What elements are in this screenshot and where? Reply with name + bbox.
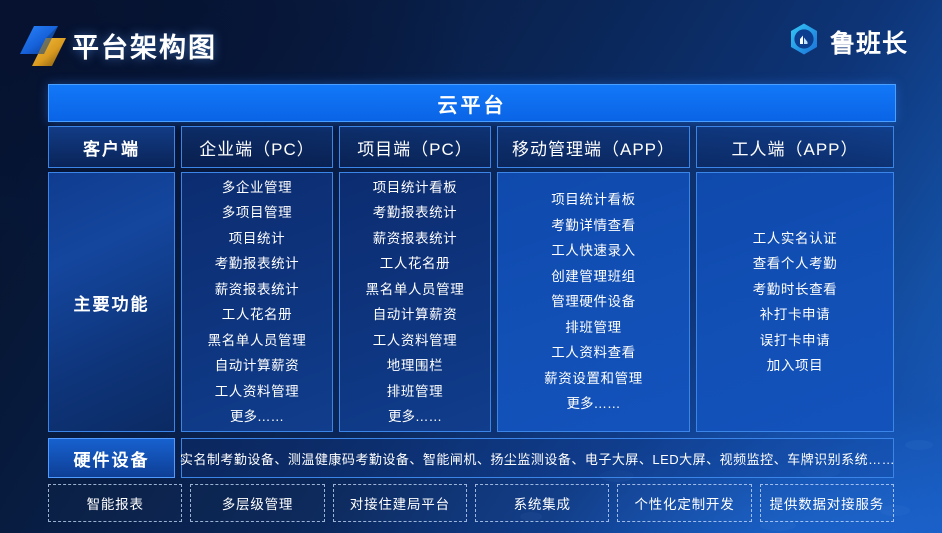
feature-item: 工人资料管理 bbox=[373, 328, 458, 354]
column-header-enterprise-pc-text: 企业端（PC） bbox=[199, 135, 315, 160]
bg-blob bbox=[905, 440, 933, 450]
feature-item: 排班管理 bbox=[387, 379, 443, 405]
brand-name: 鲁班长 bbox=[830, 24, 908, 60]
feature-item: 查看个人考勤 bbox=[753, 251, 838, 277]
feature-item: 排班管理 bbox=[565, 315, 621, 341]
feature-item: 考勤时长查看 bbox=[753, 277, 838, 303]
column-header-mobile-app-text: 移动管理端（APP） bbox=[512, 135, 675, 160]
feature-item: 更多…… bbox=[230, 404, 284, 430]
column-header-enterprise-pc[interactable]: 企业端（PC） bbox=[181, 126, 333, 168]
feature-item: 黑名单人员管理 bbox=[208, 328, 307, 354]
luban-slash-logo-icon bbox=[18, 20, 74, 76]
row-label-main-functions-text: 主要功能 bbox=[74, 290, 150, 315]
cloud-platform-label: 云平台 bbox=[438, 89, 507, 118]
row-label-clients-text: 客户端 bbox=[83, 135, 140, 160]
page-header: 平台架构图 鲁班长 bbox=[0, 0, 942, 82]
feature-item: 多项目管理 bbox=[222, 200, 293, 226]
column-header-project-pc[interactable]: 项目端（PC） bbox=[339, 126, 491, 168]
feature-list-mobile-app: 项目统计看板考勤详情查看工人快速录入创建管理班组管理硬件设备排班管理工人资料查看… bbox=[497, 172, 690, 432]
feature-item: 管理硬件设备 bbox=[551, 289, 636, 315]
feature-item: 工人资料查看 bbox=[551, 340, 636, 366]
feature-item: 自动计算薪资 bbox=[373, 302, 458, 328]
column-header-worker-app[interactable]: 工人端（APP） bbox=[696, 126, 894, 168]
service-tag-text: 智能报表 bbox=[87, 493, 144, 513]
brand-logo: 鲁班长 bbox=[787, 22, 908, 61]
feature-item: 考勤报表统计 bbox=[215, 251, 300, 277]
feature-item: 工人资料管理 bbox=[215, 379, 300, 405]
column-header-project-pc-text: 项目端（PC） bbox=[357, 135, 473, 160]
service-tag[interactable]: 对接住建局平台 bbox=[333, 484, 467, 522]
feature-item: 项目统计看板 bbox=[551, 187, 636, 213]
feature-item: 地理围栏 bbox=[387, 353, 443, 379]
hardware-content: 实名制考勤设备、测温健康码考勤设备、智能闸机、扬尘监测设备、电子大屏、LED大屏… bbox=[181, 438, 894, 478]
feature-item: 考勤详情查看 bbox=[551, 213, 636, 239]
column-header-mobile-app[interactable]: 移动管理端（APP） bbox=[497, 126, 690, 168]
client-header-row: 客户端 企业端（PC） 项目端（PC） 移动管理端（APP） 工人端（APP） bbox=[48, 126, 894, 168]
service-tag-text: 多层级管理 bbox=[222, 493, 294, 513]
feature-item: 多企业管理 bbox=[222, 175, 293, 201]
feature-item: 薪资设置和管理 bbox=[544, 366, 643, 392]
feature-item: 工人花名册 bbox=[222, 302, 293, 328]
column-header-worker-app-text: 工人端（APP） bbox=[731, 135, 858, 160]
service-tag[interactable]: 智能报表 bbox=[48, 484, 182, 522]
feature-item: 自动计算薪资 bbox=[215, 353, 300, 379]
feature-list-worker-app: 工人实名认证查看个人考勤考勤时长查看补打卡申请误打卡申请加入项目 bbox=[696, 172, 894, 432]
service-tag[interactable]: 多层级管理 bbox=[190, 484, 324, 522]
feature-list-enterprise-pc: 多企业管理多项目管理项目统计考勤报表统计薪资报表统计工人花名册黑名单人员管理自动… bbox=[181, 172, 333, 432]
service-tags-row: 智能报表多层级管理对接住建局平台系统集成个性化定制开发提供数据对接服务 bbox=[48, 484, 894, 522]
page-title: 平台架构图 bbox=[72, 26, 217, 65]
service-tag-text: 提供数据对接服务 bbox=[770, 493, 884, 513]
row-label-main-functions: 主要功能 bbox=[48, 172, 175, 432]
feature-item: 更多…… bbox=[567, 391, 621, 417]
row-label-clients: 客户端 bbox=[48, 126, 175, 168]
feature-item: 工人实名认证 bbox=[753, 226, 838, 252]
service-tag-text: 系统集成 bbox=[514, 493, 571, 513]
feature-item: 项目统计 bbox=[229, 226, 285, 252]
feature-item: 考勤报表统计 bbox=[373, 200, 458, 226]
feature-item: 薪资报表统计 bbox=[215, 277, 300, 303]
feature-item: 薪资报表统计 bbox=[373, 226, 458, 252]
hardware-row: 硬件设备 实名制考勤设备、测温健康码考勤设备、智能闸机、扬尘监测设备、电子大屏、… bbox=[48, 438, 894, 478]
service-tag[interactable]: 系统集成 bbox=[475, 484, 609, 522]
feature-item: 加入项目 bbox=[767, 353, 823, 379]
feature-list-project-pc: 项目统计看板考勤报表统计薪资报表统计工人花名册黑名单人员管理自动计算薪资工人资料… bbox=[339, 172, 491, 432]
feature-item: 更多…… bbox=[388, 404, 442, 430]
cloud-platform-bar: 云平台 bbox=[48, 84, 896, 122]
feature-item: 误打卡申请 bbox=[760, 328, 831, 354]
platform-architecture-diagram: 平台架构图 鲁班长 云平台 bbox=[0, 0, 942, 533]
feature-item: 补打卡申请 bbox=[760, 302, 831, 328]
service-tag-text: 对接住建局平台 bbox=[350, 493, 450, 513]
service-tag[interactable]: 提供数据对接服务 bbox=[760, 484, 894, 522]
main-functions-row: 主要功能 多企业管理多项目管理项目统计考勤报表统计薪资报表统计工人花名册黑名单人… bbox=[48, 172, 894, 432]
feature-item: 项目统计看板 bbox=[373, 175, 458, 201]
hardware-label: 硬件设备 bbox=[48, 438, 175, 478]
feature-item: 工人花名册 bbox=[380, 251, 451, 277]
service-tag[interactable]: 个性化定制开发 bbox=[617, 484, 751, 522]
hardware-content-text: 实名制考勤设备、测温健康码考勤设备、智能闸机、扬尘监测设备、电子大屏、LED大屏… bbox=[180, 449, 895, 468]
feature-item: 工人快速录入 bbox=[551, 238, 636, 264]
hexagon-building-icon bbox=[787, 22, 821, 61]
hardware-label-text: 硬件设备 bbox=[74, 446, 150, 471]
feature-item: 创建管理班组 bbox=[551, 264, 636, 290]
feature-item: 黑名单人员管理 bbox=[366, 277, 465, 303]
service-tag-text: 个性化定制开发 bbox=[634, 493, 734, 513]
